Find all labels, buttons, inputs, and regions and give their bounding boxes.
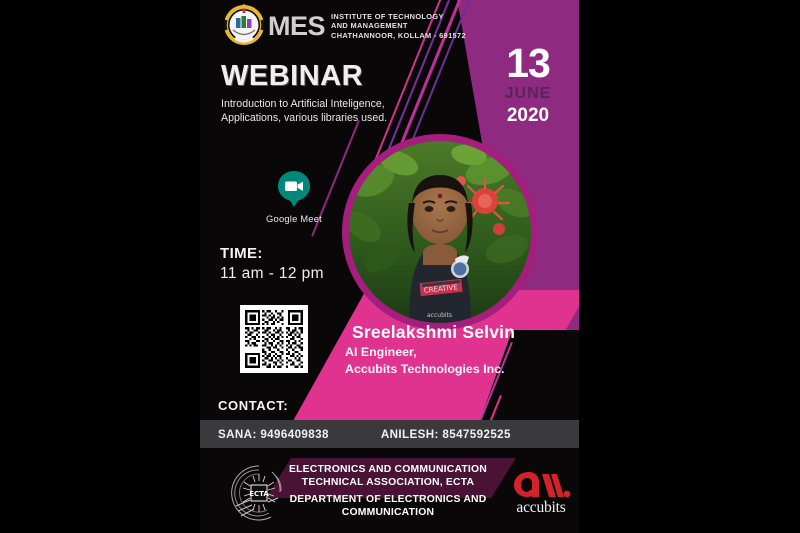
platform-name: Google Meet — [244, 213, 344, 224]
event-subtitle-line-1: Introduction to Artificial Inteligence, — [221, 97, 451, 111]
event-subtitle-line-2: Applications, various libraries used. — [221, 111, 451, 125]
accubits-sponsor-logo: accubits — [505, 468, 577, 526]
footer-line-2: TECHNICAL ASSOCIATION, ECTA — [272, 476, 504, 489]
time-label: TIME: — [220, 245, 324, 262]
event-subtitle: Introduction to Artificial Inteligence, … — [221, 97, 451, 125]
institution-name-lines: INSTITUTE OF TECHNOLOGY AND MANAGEMENT C… — [331, 12, 466, 40]
time-value: 11 am - 12 pm — [220, 265, 324, 283]
speaker-role: AI Engineer, — [345, 344, 572, 361]
event-date-month: JUNE — [493, 83, 563, 105]
event-date-block: 13 JUNE 2020 — [493, 44, 563, 127]
poster-canvas: MES INSTITUTE OF TECHNOLOGY AND MANAGEME… — [0, 0, 800, 533]
institution-short-name: MES — [268, 13, 325, 40]
qr-code-icon[interactable] — [240, 305, 308, 373]
event-date-year: 2020 — [493, 105, 563, 128]
footer-line-1: ELECTRONICS AND COMMUNICATION — [272, 463, 504, 476]
svg-text:ECTA: ECTA — [249, 490, 269, 498]
speaker-info-block: Sreelakshmi Selvin AI Engineer, Accubits… — [352, 322, 572, 378]
contact-entry-sana: SANA: 9496409838 — [218, 428, 329, 441]
mes-crest-icon — [222, 4, 266, 48]
platform-block: Google Meet — [244, 170, 344, 224]
footer-text-block: ELECTRONICS AND COMMUNICATION TECHNICAL … — [272, 463, 504, 519]
accubits-wordmark: accubits — [505, 500, 577, 516]
contact-bar: SANA: 9496409838 ANILESH: 8547592525 — [200, 420, 579, 448]
speaker-portrait-photo: CREATIVE accubits — [349, 141, 531, 323]
footer-line-4: COMMUNICATION — [272, 506, 504, 519]
event-title: WEBINAR — [221, 62, 451, 91]
speaker-organization: Accubits Technologies Inc. — [345, 361, 572, 378]
contact-label: CONTACT: — [218, 398, 288, 413]
footer-line-3: DEPARTMENT OF ELECTRONICS AND — [272, 493, 504, 506]
event-title-block: WEBINAR Introduction to Artificial Intel… — [221, 62, 451, 125]
institution-header: MES INSTITUTE OF TECHNOLOGY AND MANAGEME… — [200, 2, 500, 50]
contact-entry-anilesh: ANILESH: 8547592525 — [381, 428, 511, 441]
institution-line-3: CHATHANNOOR, KOLLAM - 691572 — [331, 31, 466, 40]
event-time-block: TIME: 11 am - 12 pm — [220, 245, 324, 283]
google-meet-icon — [275, 170, 313, 208]
speaker-name: Sreelakshmi Selvin — [352, 322, 572, 344]
accubits-mark-icon — [511, 468, 571, 498]
institution-line-1: INSTITUTE OF TECHNOLOGY — [331, 12, 466, 21]
institution-line-2: AND MANAGEMENT — [331, 21, 466, 30]
svg-text:accubits: accubits — [427, 312, 452, 319]
webinar-poster: MES INSTITUTE OF TECHNOLOGY AND MANAGEME… — [200, 0, 579, 533]
event-date-day: 13 — [493, 44, 563, 83]
speaker-photo-ring: CREATIVE accubits — [342, 134, 538, 330]
